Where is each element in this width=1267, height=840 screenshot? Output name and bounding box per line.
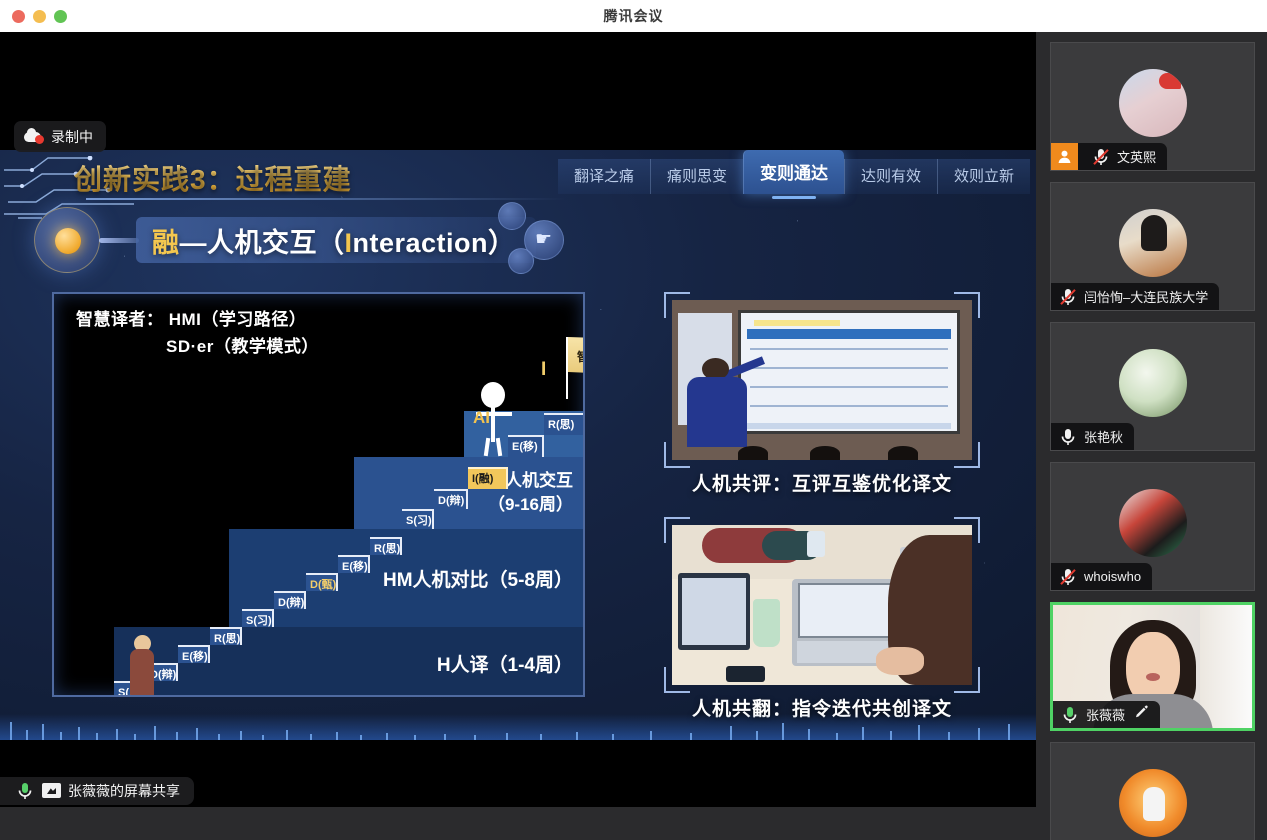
- avatar: [1119, 769, 1187, 837]
- window-title: 腾讯会议: [0, 6, 1267, 26]
- participant-name: 闫怡恂–大连民族大学: [1084, 287, 1208, 306]
- participant-nameplate: 文英熙: [1051, 143, 1167, 170]
- slide-tab-2[interactable]: 痛则思变: [650, 159, 743, 194]
- microphone-muted-icon: [1091, 147, 1111, 167]
- subtitle-accent-char: 融: [152, 228, 180, 258]
- recording-badge: 录制中: [14, 121, 106, 152]
- audio-waveform: [0, 714, 1036, 740]
- meeting-window: 腾讯会议 录制中: [0, 0, 1267, 840]
- stair-step-5: S(习): [242, 609, 274, 627]
- microphone-muted-icon: [1058, 567, 1078, 587]
- stair-step-6: D(辩): [274, 591, 306, 609]
- participant-tile-5-self[interactable]: 张薇薇: [1050, 602, 1255, 731]
- slide-tab-3[interactable]: 变则通达: [743, 150, 844, 194]
- avatar: [1119, 69, 1187, 137]
- stair-step-7: D(甄): [306, 573, 338, 591]
- microphone-muted-icon: [1058, 287, 1078, 307]
- slide-tab-4[interactable]: 达则有效: [844, 159, 937, 194]
- subtitle-rest-a: —人机交互（: [180, 228, 345, 258]
- participant-name: whoiswho: [1084, 569, 1141, 584]
- slide-nav-tabs: 翻译之痛 痛则思变 变则通达 达则有效 效则立新: [558, 152, 1030, 194]
- goal-flag-label: 智慧译者: [568, 337, 585, 375]
- goal-flag: 智慧译者: [566, 337, 568, 399]
- participant-name: 张薇薇: [1086, 705, 1125, 724]
- presentation-slide: 创新实践3：过程重建 翻译之痛 痛则思变 变则通达 达则有效 效则立新 融—人机…: [0, 150, 1036, 740]
- stair-step-14: R(思): [544, 413, 585, 435]
- subtitle-rest-b: nteraction）: [353, 228, 516, 258]
- slide-subtitle-pill: 融—人机交互（Interaction）: [136, 217, 536, 263]
- title-underline: [86, 198, 566, 200]
- recording-label: 录制中: [51, 127, 93, 147]
- staircase-diagram: H人译（1-4周） HM人机对比（5-8周） HMI人机交互 （9-16周） S…: [54, 294, 585, 697]
- participant-name: 张艳秋: [1084, 427, 1123, 446]
- slide-photo-card-2: 人机共翻：指令迭代共创译文: [672, 525, 972, 685]
- ai-label: AI: [473, 408, 490, 428]
- phase-band-2: HM人机对比（5-8周）: [229, 529, 585, 627]
- participant-tile-3[interactable]: 张艳秋: [1050, 322, 1255, 451]
- microphone-on-icon: [1058, 427, 1078, 447]
- screen-share-pill: 张薇薇的屏幕共享: [0, 777, 194, 805]
- slide-photo-card-1: 人机共评：互评互鉴优化译文: [672, 300, 972, 460]
- hand-pointer-icon: ☛: [535, 228, 552, 251]
- participant-nameplate: 闫怡恂–大连民族大学: [1051, 283, 1219, 310]
- participant-nameplate: 张艳秋: [1051, 423, 1134, 450]
- screen-share-icon: [42, 783, 61, 798]
- stair-step-10: S(习): [402, 509, 434, 529]
- laptops-photo: [672, 525, 972, 685]
- participant-tile-1[interactable]: 文英熙: [1050, 42, 1255, 171]
- stair-step-12: I(融): [468, 467, 508, 489]
- stair-step-4: R(思): [210, 627, 242, 645]
- participant-nameplate: 张薇薇: [1053, 701, 1160, 728]
- host-badge-icon: [1051, 143, 1078, 170]
- stair-step-3: E(移): [178, 645, 210, 663]
- photo-caption-1: 人机共评：互评互鉴优化译文: [672, 469, 972, 496]
- cloud-record-icon: [24, 130, 44, 144]
- slide-tab-5[interactable]: 效则立新: [937, 159, 1030, 194]
- participant-name: 文英熙: [1117, 147, 1156, 166]
- participant-nameplate: whoiswho: [1051, 563, 1152, 590]
- slide-title: 创新实践3：过程重建: [74, 158, 352, 198]
- rename-pencil-icon[interactable]: [1134, 705, 1149, 725]
- screen-share-label: 张薇薇的屏幕共享: [68, 781, 180, 801]
- microphone-on-icon: [1060, 705, 1080, 725]
- slide-tab-1[interactable]: 翻译之痛: [558, 159, 650, 194]
- smart-translator-figure: AI: [471, 382, 515, 454]
- stair-step-8: E(移): [338, 555, 370, 573]
- phase-band-3-line2: （9-16周）: [488, 493, 573, 517]
- stair-step-9: R(思): [370, 537, 402, 555]
- avatar: [1119, 209, 1187, 277]
- orbit-decoration: ☛: [494, 202, 578, 280]
- window-titlebar: 腾讯会议: [0, 0, 1267, 32]
- shared-screen-stage: 录制中 创新实践3：过程重建: [0, 32, 1036, 807]
- avatar: [1119, 489, 1187, 557]
- screen-share-bar: 张薇薇的屏幕共享: [0, 774, 1036, 807]
- human-translator-figure: [128, 635, 156, 697]
- participants-panel[interactable]: 文英熙 闫怡恂–大连民族大学: [1036, 32, 1267, 840]
- classroom-photo: [672, 300, 972, 460]
- participant-tile-4[interactable]: whoiswho: [1050, 462, 1255, 591]
- node-connector: [99, 238, 139, 243]
- i-marker: I: [541, 359, 546, 381]
- stair-step-11: D(辩): [434, 489, 468, 509]
- learning-path-chart: 智慧译者： HMI（学习路径） SD·er（教学模式） H人译（1-4周） HM…: [52, 292, 585, 697]
- slide-subtitle: 融—人机交互（Interaction）: [152, 221, 516, 260]
- bullet-node-icon: [34, 207, 100, 273]
- participant-tile-2[interactable]: 闫怡恂–大连民族大学: [1050, 182, 1255, 311]
- participant-tile-6[interactable]: 刘英蘋: [1050, 742, 1255, 840]
- subtitle-accent-letter: I: [345, 228, 353, 258]
- avatar: [1119, 349, 1187, 417]
- microphone-on-icon: [15, 781, 35, 801]
